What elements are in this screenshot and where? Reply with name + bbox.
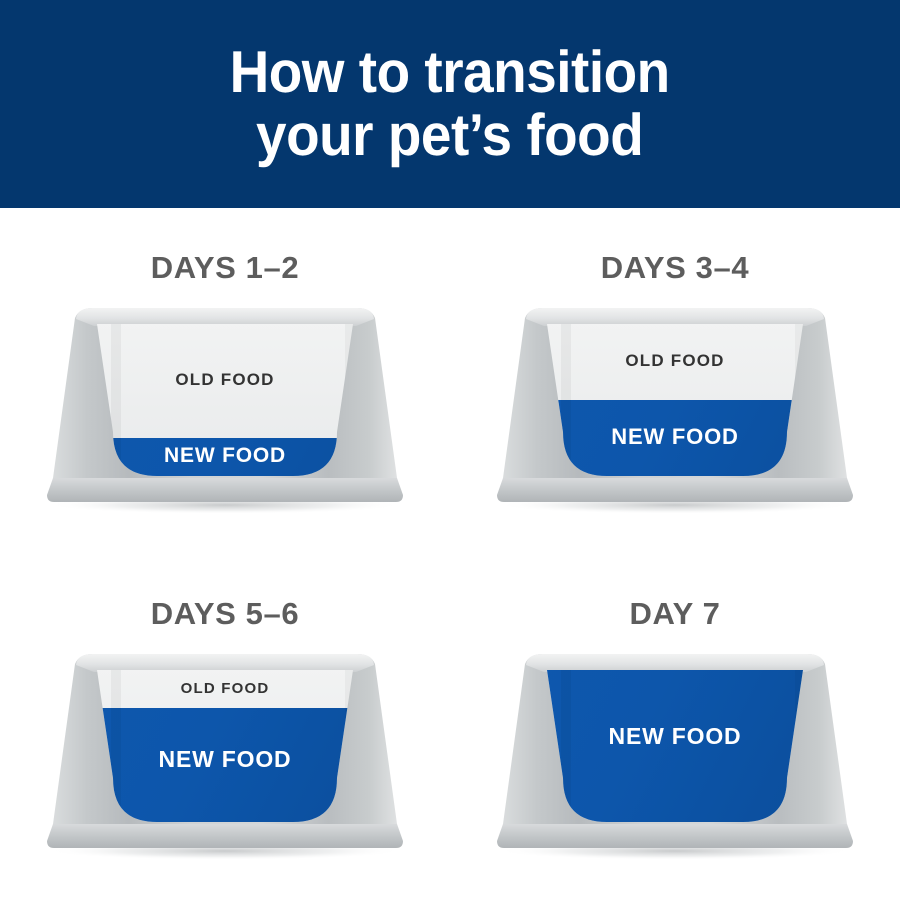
bowl-rim	[526, 654, 824, 672]
bowl-rim	[526, 308, 824, 326]
transition-step-days-1-2: DAYS 1–2	[0, 208, 450, 554]
transition-step-days-3-4: DAYS 3–4	[450, 208, 900, 554]
bowl-base	[497, 478, 853, 502]
step-title-days-1-2: DAYS 1–2	[151, 250, 299, 286]
page-title: How to transition your pet’s food	[230, 41, 670, 166]
bowl-base	[497, 824, 853, 848]
bowl-illustration	[45, 302, 405, 514]
bowl-base	[47, 824, 403, 848]
transition-steps-grid: DAYS 1–2	[0, 208, 900, 900]
bowl-illustration	[495, 302, 855, 514]
bowl-days-1-2: OLD FOODNEW FOOD	[45, 302, 405, 514]
header-banner: How to transition your pet’s food	[0, 0, 900, 208]
bowl-rim	[76, 308, 374, 326]
page-title-line1: How to transition	[230, 39, 670, 105]
bowl-days-3-4: OLD FOODNEW FOOD	[495, 302, 855, 514]
bowl-illustration	[495, 648, 855, 860]
transition-step-day-7: DAY 7	[450, 554, 900, 900]
bowl-rim	[76, 654, 374, 672]
bowl-base	[47, 478, 403, 502]
step-title-day-7: DAY 7	[630, 596, 721, 632]
bowl-days-5-6: OLD FOODNEW FOOD	[45, 648, 405, 860]
transition-step-days-5-6: DAYS 5–6	[0, 554, 450, 900]
step-title-days-5-6: DAYS 5–6	[151, 596, 299, 632]
page-title-line2: your pet’s food	[230, 104, 670, 167]
step-title-days-3-4: DAYS 3–4	[601, 250, 749, 286]
bowl-day-7: NEW FOOD	[495, 648, 855, 860]
bowl-illustration	[45, 648, 405, 860]
